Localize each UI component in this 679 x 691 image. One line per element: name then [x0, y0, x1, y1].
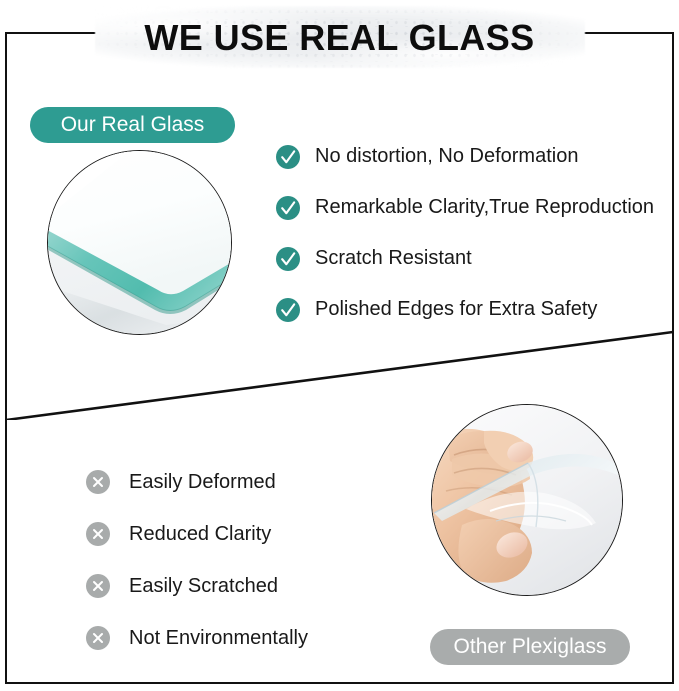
- list-item-label: Scratch Resistant: [315, 247, 472, 270]
- list-item-label: Polished Edges for Extra Safety: [315, 298, 597, 321]
- list-item-label: Easily Deformed: [129, 471, 276, 494]
- check-icon: [276, 298, 300, 322]
- list-item: Polished Edges for Extra Safety: [276, 284, 654, 335]
- frame-border-left: [5, 32, 7, 684]
- check-icon: [276, 196, 300, 220]
- pros-list: No distortion, No Deformation Remarkable…: [276, 131, 654, 335]
- badge-other-plexiglass-label: Other Plexiglass: [454, 635, 607, 659]
- list-item: Scratch Resistant: [276, 233, 654, 284]
- badge-our-real-glass: Our Real Glass: [30, 107, 235, 143]
- cons-list: Easily Deformed Reduced Clarity Easily S…: [86, 456, 308, 664]
- badge-our-real-glass-label: Our Real Glass: [61, 113, 205, 137]
- list-item-label: Easily Scratched: [129, 575, 278, 598]
- list-item-label: Reduced Clarity: [129, 523, 271, 546]
- badge-other-plexiglass: Other Plexiglass: [430, 629, 630, 665]
- frame-border-bottom: [5, 682, 674, 684]
- list-item: Easily Deformed: [86, 456, 308, 508]
- check-icon: [276, 247, 300, 271]
- x-icon: [86, 626, 110, 650]
- plexiglass-illustration: [432, 405, 622, 595]
- frame-border-right: [672, 32, 674, 684]
- page-title: WE USE REAL GLASS: [0, 17, 679, 59]
- x-icon: [86, 574, 110, 598]
- x-icon: [86, 522, 110, 546]
- list-item-label: Not Environmentally: [129, 627, 308, 650]
- list-item: Reduced Clarity: [86, 508, 308, 560]
- list-item-label: No distortion, No Deformation: [315, 145, 578, 168]
- list-item-label: Remarkable Clarity,True Reproduction: [315, 196, 654, 219]
- check-icon: [276, 145, 300, 169]
- x-icon: [86, 470, 110, 494]
- plexiglass-photo: [431, 404, 623, 596]
- real-glass-illustration: [48, 151, 231, 334]
- real-glass-photo: [47, 150, 232, 335]
- diagonal-divider: [6, 320, 673, 420]
- comparison-infographic: WE USE REAL GLASS Our Real Glass: [0, 0, 679, 691]
- list-item: Remarkable Clarity,True Reproduction: [276, 182, 654, 233]
- list-item: Not Environmentally: [86, 612, 308, 664]
- list-item: No distortion, No Deformation: [276, 131, 654, 182]
- list-item: Easily Scratched: [86, 560, 308, 612]
